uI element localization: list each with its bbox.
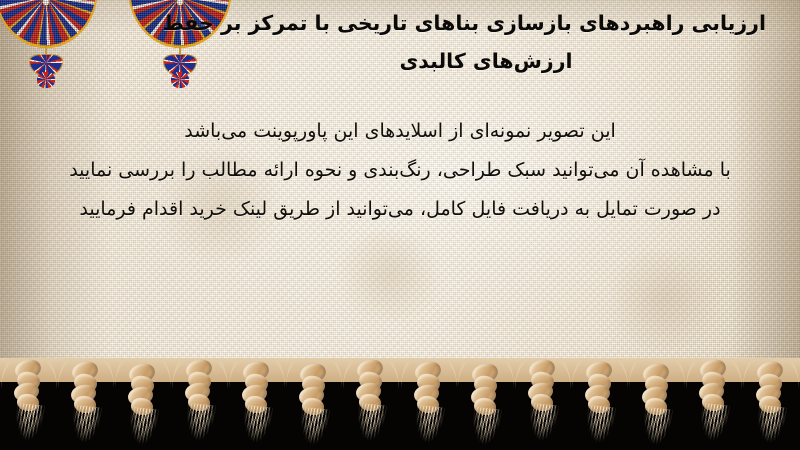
tassel-brush (13, 403, 46, 450)
fringe-tassel (409, 366, 449, 450)
fringe-tassel (751, 366, 791, 450)
tassel-brush (413, 405, 446, 450)
fringe-tassel (237, 366, 277, 450)
tassel-brush (355, 403, 388, 450)
fringe-tassel (351, 364, 391, 450)
slide-body-line-1: این تصویر نمونه‌ای از اسلایدهای این پاور… (12, 112, 788, 151)
carpet-fringe (0, 358, 800, 450)
slide-body-line-2: با مشاهده آن می‌توانید سبک طراحی، رنگ‌بن… (12, 151, 788, 190)
slide-body: این تصویر نمونه‌ای از اسلایدهای این پاور… (12, 112, 788, 229)
fringe-tassel (294, 368, 334, 450)
tassel-brush (641, 407, 674, 450)
tassel-brush (298, 407, 331, 450)
fringe-tassel (694, 364, 734, 450)
tassel-brush (755, 405, 788, 450)
tassel-brush (241, 405, 274, 450)
slide-title: ارزیابی راهبردهای بازسازی بناهای تاریخی … (206, 4, 766, 80)
tassel-brush (584, 405, 617, 450)
tassel-brush (527, 403, 560, 450)
slide-title-line-2: ارزش‌های کالبدی (206, 42, 766, 80)
tassel-brush (127, 407, 160, 450)
fringe-tassel (123, 368, 163, 450)
fringe-tassel (9, 364, 49, 450)
medallion-pendant-small-icon (171, 72, 189, 88)
fringe-tassel (580, 366, 620, 450)
tassel-brush (698, 403, 731, 450)
tassel-brush (184, 403, 217, 450)
tassel-brush (70, 405, 103, 450)
slide-canvas: ارزیابی راهبردهای بازسازی بناهای تاریخی … (0, 0, 800, 450)
slide-body-line-3: در صورت تمایل به دریافت فایل کامل، می‌تو… (12, 190, 788, 229)
tassel-brush (470, 407, 503, 450)
slide-title-line-1: ارزیابی راهبردهای بازسازی بناهای تاریخی … (206, 4, 766, 42)
fringe-tassel (466, 368, 506, 450)
medallion-pendant-small-icon (37, 72, 55, 88)
fringe-tassel (180, 364, 220, 450)
fringe-tassel (523, 364, 563, 450)
fringe-tassel (637, 368, 677, 450)
fringe-tassel (66, 366, 106, 450)
